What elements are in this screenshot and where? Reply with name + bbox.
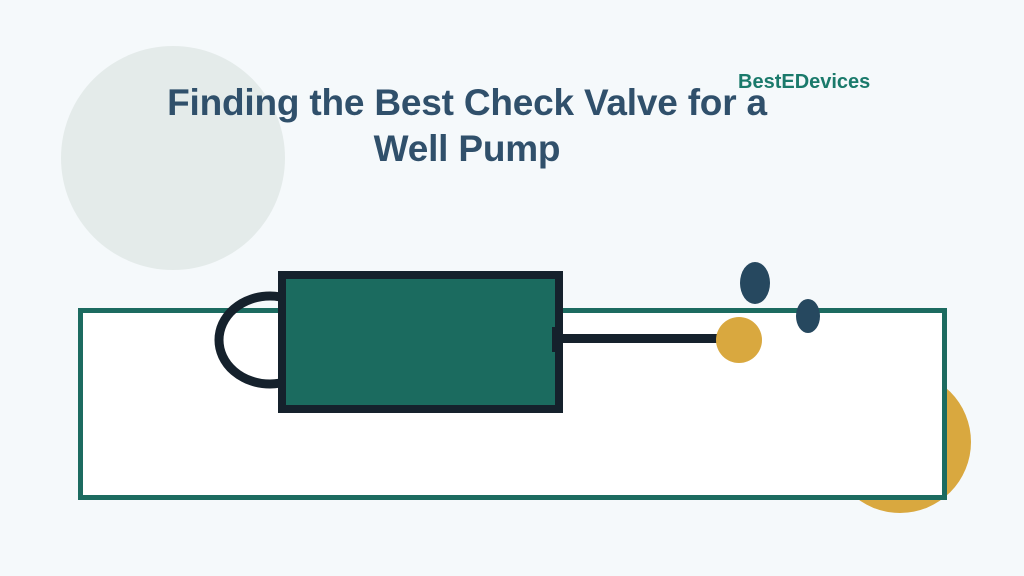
valve-body-rectangle xyxy=(282,275,559,409)
brand-logo: BestEDevices xyxy=(738,71,870,93)
page-title-text: Finding the Best Check Valve for a Well … xyxy=(62,80,872,172)
slide-canvas: Finding the Best Check Valve for a Well … xyxy=(0,0,1024,576)
valve-stem-bar xyxy=(556,334,742,343)
navy-bubble-small xyxy=(796,299,820,333)
page-title: Finding the Best Check Valve for a Well … xyxy=(62,80,872,172)
gold-stem-knob xyxy=(716,317,762,363)
navy-bubble-large xyxy=(740,262,770,304)
